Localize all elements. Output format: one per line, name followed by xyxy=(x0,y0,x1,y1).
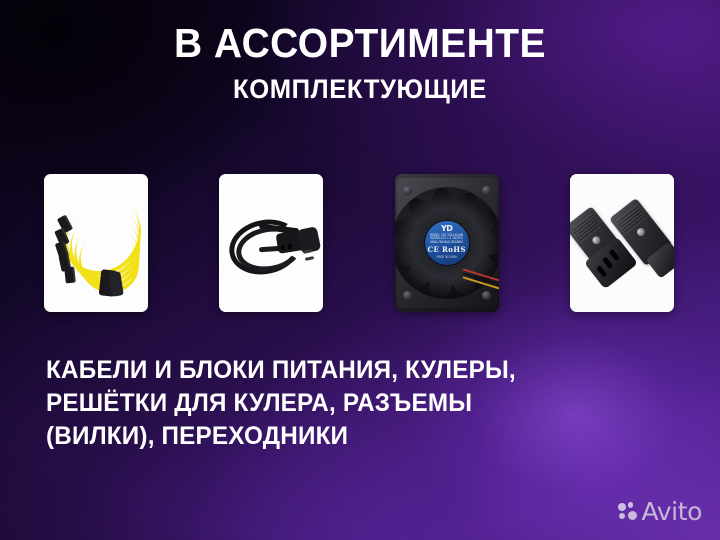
banner-subtitle: КОМПЛЕКТУЮЩИЕ xyxy=(18,74,702,104)
fan-origin-text: MADE IN CHINA xyxy=(425,256,469,260)
avito-watermark: Avito xyxy=(618,499,702,524)
product-tile-power-cord[interactable] xyxy=(219,174,323,312)
banner-caption: КАБЕЛИ И БЛОКИ ПИТАНИЯ, КУЛЕРЫ, РЕШЁТКИ … xyxy=(46,354,657,453)
heading-block: В АССОРТИМЕНТЕ КОМПЛЕКТУЮЩИЕ xyxy=(0,20,720,104)
product-tile-rewireable-connectors[interactable] xyxy=(570,174,674,312)
fan-spec-lines: MODEL: YD1 2024-4040B RATING:12V = 2.7A(… xyxy=(425,234,469,244)
product-tile-axial-fan[interactable]: YD MODEL: YD1 2024-4040B RATING:12V = 2.… xyxy=(395,174,499,312)
pcie-splitter-cables-photo xyxy=(44,174,148,312)
listing-banner: В АССОРТИМЕНТЕ КОМПЛЕКТУЮЩИЕ xyxy=(0,0,720,540)
fan-spec-bearing: AXIAL FAN BALL BEARING xyxy=(425,240,469,244)
fan-power-wires xyxy=(459,266,499,300)
fan-hub-label: YD MODEL: YD1 2024-4040B RATING:12V = 2.… xyxy=(425,221,469,265)
caption-line-1: КАБЕЛИ И БЛОКИ ПИТАНИЯ, КУЛЕРЫ, xyxy=(46,354,657,387)
fan-brand-logo: YD xyxy=(425,224,469,233)
product-tile-pcie-splitter-cables[interactable] xyxy=(44,174,148,312)
rewireable-connectors-photo xyxy=(570,174,674,312)
avito-wordmark: Avito xyxy=(642,499,702,524)
caption-line-3: (ВИЛКИ), ПЕРЕХОДНИКИ xyxy=(46,420,657,453)
caption-line-2: РЕШЁТКИ ДЛЯ КУЛЕРА, РАЗЪЕМЫ xyxy=(46,387,657,420)
fan-certification-marks: CE RoHS xyxy=(425,246,469,254)
avito-dots-logo-icon xyxy=(618,502,637,521)
axial-fan-photo: YD MODEL: YD1 2024-4040B RATING:12V = 2.… xyxy=(395,174,499,312)
banner-title: В АССОРТИМЕНТЕ xyxy=(18,20,702,66)
power-cord-photo xyxy=(219,174,323,312)
product-tile-row: YD MODEL: YD1 2024-4040B RATING:12V = 2.… xyxy=(44,174,674,312)
